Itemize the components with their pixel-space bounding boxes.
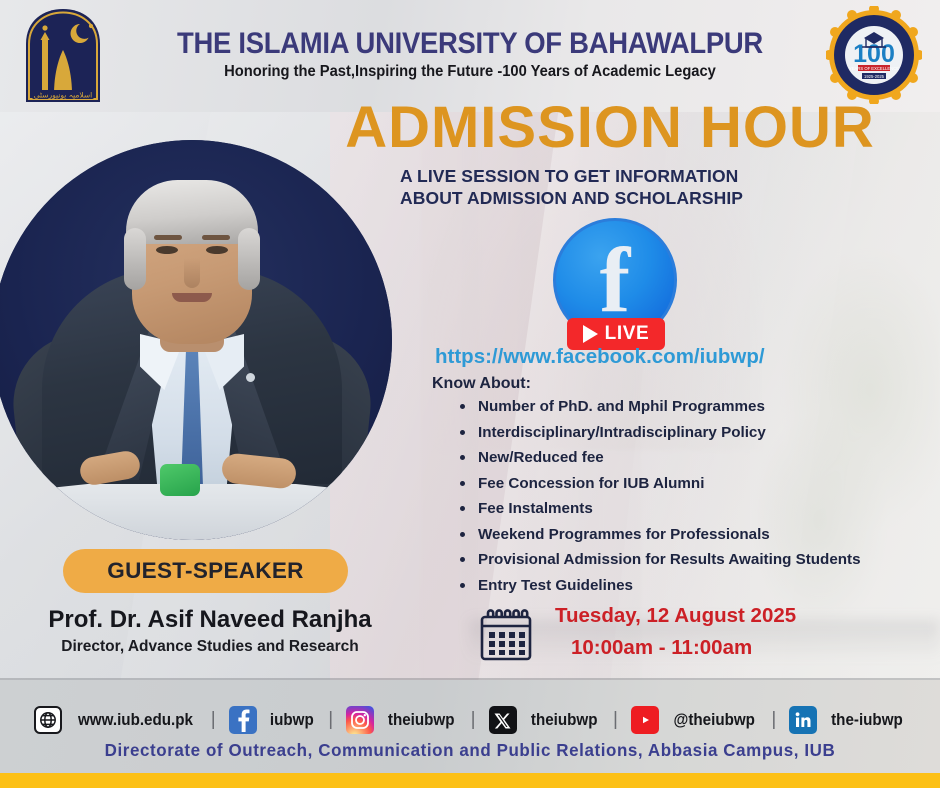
facebook-live-graphic[interactable]: f LIVE [553, 218, 685, 338]
know-about-list: Number of PhD. and Mphil Programmes Inte… [452, 398, 922, 602]
page-subtitle: A LIVE SESSION TO GET INFORMATION ABOUT … [400, 165, 820, 210]
page-subtitle-line-2: ABOUT ADMISSION AND SCHOLARSHIP [400, 187, 820, 209]
social-link-youtube[interactable]: @theiubwp [631, 706, 759, 734]
social-link-instagram[interactable]: theiubwp [346, 706, 457, 734]
separator: | [315, 709, 346, 731]
list-item: Entry Test Guidelines [452, 577, 922, 594]
svg-text:1925-2025: 1925-2025 [864, 74, 885, 79]
list-item: Number of PhD. and Mphil Programmes [452, 398, 922, 415]
social-link-facebook[interactable]: iubwp [229, 706, 316, 734]
social-link-website[interactable]: www.iub.edu.pk [34, 706, 198, 734]
facebook-url-link[interactable]: https://www.facebook.com/iubwp/ [435, 345, 765, 369]
social-link-x[interactable]: theiubwp [489, 706, 600, 734]
linkedin-icon [789, 706, 817, 734]
list-item: Fee Concession for IUB Alumni [452, 475, 922, 492]
event-date: Tuesday, 12 August 2025 [555, 604, 796, 628]
list-item: Weekend Programmes for Professionals [452, 526, 922, 543]
list-item: New/Reduced fee [452, 449, 922, 466]
event-schedule: Tuesday, 12 August 2025 10:00am - 11:00a… [477, 604, 897, 670]
centennial-100-years-badge: 100 YEARS OF EXCELLENCE 1925-2025 [826, 6, 922, 104]
instagram-icon [346, 706, 374, 734]
guest-speaker-badge: GUEST-SPEAKER [63, 549, 348, 593]
separator: | [758, 709, 789, 731]
social-link-linkedin[interactable]: the-iubwp [789, 706, 906, 734]
social-label-x: theiubwp [530, 711, 597, 730]
live-badge-label: LIVE [605, 323, 650, 345]
calendar-icon [477, 606, 535, 669]
social-links-row: www.iub.edu.pk | iubwp | theiubwp | thei… [0, 698, 940, 742]
admission-hour-poster: اسلامیہ یونیورسٹی THE ISLAMIA UNIVERSITY… [0, 0, 940, 788]
separator: | [458, 709, 489, 731]
x-twitter-icon [489, 706, 517, 734]
svg-text:YEARS OF EXCELLENCE: YEARS OF EXCELLENCE [849, 66, 899, 71]
separator: | [600, 709, 631, 731]
event-time: 10:00am - 11:00am [571, 636, 752, 660]
social-label-website: www.iub.edu.pk [78, 711, 193, 730]
directorate-line: Directorate of Outreach, Communication a… [14, 740, 926, 761]
speaker-name: Prof. Dr. Asif Naveed Ranjha [0, 606, 420, 634]
list-item: Fee Instalments [452, 500, 922, 517]
page-subtitle-line-1: A LIVE SESSION TO GET INFORMATION [400, 165, 820, 187]
social-label-linkedin: the-iubwp [831, 711, 903, 730]
social-label-youtube: @theiubwp [673, 711, 754, 730]
list-item: Interdisciplinary/Intradisciplinary Poli… [452, 424, 922, 441]
speaker-portrait [0, 140, 392, 540]
svg-text:100: 100 [853, 40, 895, 68]
svg-text:اسلامیہ یونیورسٹی: اسلامیہ یونیورسٹی [34, 91, 93, 100]
facebook-icon [229, 706, 257, 734]
know-about-label: Know About: [432, 375, 531, 393]
bottom-gold-bar [0, 773, 940, 788]
guest-speaker-badge-label: GUEST-SPEAKER [107, 558, 303, 584]
page-title: ADMISSION HOUR [330, 99, 890, 157]
list-item: Provisional Admission for Results Awaiti… [452, 551, 922, 568]
university-tagline: Honoring the Past,Inspiring the Future -… [24, 63, 917, 81]
university-name: THE ISLAMIA UNIVERSITY OF BAHAWALPUR [33, 27, 907, 61]
separator: | [198, 709, 229, 731]
social-label-instagram: theiubwp [388, 711, 455, 730]
social-label-facebook: iubwp [270, 711, 314, 730]
globe-icon [34, 706, 62, 734]
play-icon [583, 325, 598, 343]
youtube-icon [631, 706, 659, 734]
speaker-role: Director, Advance Studies and Research [0, 638, 420, 656]
